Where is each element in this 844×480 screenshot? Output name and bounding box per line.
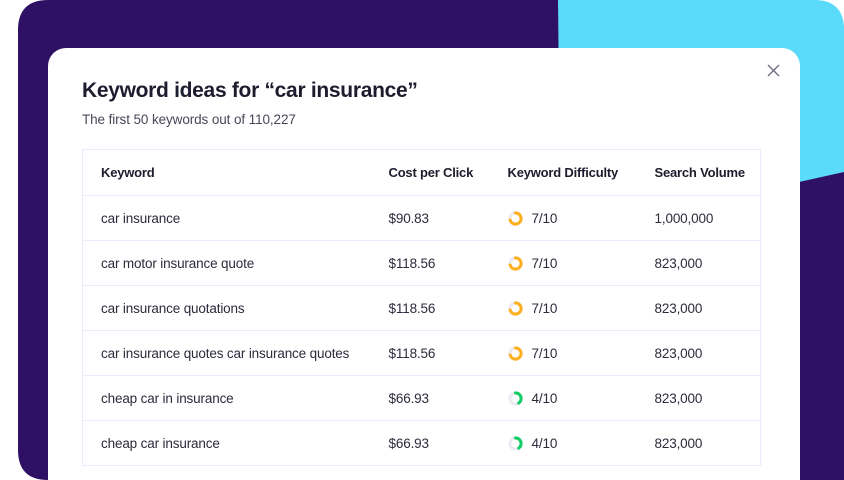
cell-cost-per-click: $66.93	[371, 376, 490, 421]
cell-cost-per-click: $118.56	[371, 331, 490, 376]
difficulty-gauge-icon	[508, 211, 523, 226]
difficulty-score-label: 7/10	[532, 301, 558, 316]
result-count-label: The first 50 keywords out of 110,227	[82, 112, 766, 127]
cell-keyword-difficulty: 7/10	[490, 331, 637, 376]
column-header-cost-per-click[interactable]: Cost per Click	[371, 150, 490, 196]
difficulty-gauge-icon	[508, 256, 523, 271]
difficulty-score-label: 7/10	[532, 256, 558, 271]
cell-keyword-difficulty: 4/10	[490, 421, 637, 466]
cell-search-volume: 1,000,000	[637, 196, 761, 241]
cell-cost-per-click: $66.93	[371, 421, 490, 466]
keyword-table-container: Keyword Cost per Click Keyword Difficult…	[82, 149, 766, 466]
cell-keyword: cheap car in insurance	[83, 376, 371, 421]
cell-keyword-difficulty: 4/10	[490, 376, 637, 421]
cell-keyword: car motor insurance quote	[83, 241, 371, 286]
cell-keyword-difficulty: 7/10	[490, 241, 637, 286]
close-icon[interactable]	[758, 55, 788, 85]
cell-search-volume: 823,000	[637, 286, 761, 331]
cell-search-volume: 823,000	[637, 421, 761, 466]
difficulty-gauge-icon	[508, 391, 523, 406]
difficulty-gauge-icon	[508, 436, 523, 451]
cell-keyword: car insurance	[83, 196, 371, 241]
table-row[interactable]: cheap car insurance$66.934/10823,000	[83, 421, 761, 466]
difficulty-score-label: 4/10	[532, 436, 558, 451]
keyword-table: Keyword Cost per Click Keyword Difficult…	[82, 149, 761, 466]
table-header-row: Keyword Cost per Click Keyword Difficult…	[83, 150, 761, 196]
table-row[interactable]: car insurance quotes car insurance quote…	[83, 331, 761, 376]
cell-keyword: cheap car insurance	[83, 421, 371, 466]
difficulty-gauge-icon	[508, 346, 523, 361]
cell-cost-per-click: $118.56	[371, 286, 490, 331]
cell-keyword: car insurance quotations	[83, 286, 371, 331]
table-row[interactable]: car insurance quotations$118.567/10823,0…	[83, 286, 761, 331]
keyword-ideas-modal: Keyword ideas for “car insurance” The fi…	[48, 48, 800, 480]
cell-keyword: car insurance quotes car insurance quote…	[83, 331, 371, 376]
modal-header: Keyword ideas for “car insurance” The fi…	[48, 48, 800, 127]
page-title: Keyword ideas for “car insurance”	[82, 78, 766, 103]
column-header-search-volume[interactable]: Search Volume	[637, 150, 761, 196]
difficulty-score-label: 7/10	[532, 211, 558, 226]
table-body: car insurance$90.837/101,000,000car moto…	[83, 196, 761, 466]
cell-keyword-difficulty: 7/10	[490, 196, 637, 241]
column-header-keyword[interactable]: Keyword	[83, 150, 371, 196]
difficulty-score-label: 7/10	[532, 346, 558, 361]
cell-search-volume: 823,000	[637, 241, 761, 286]
cell-search-volume: 823,000	[637, 331, 761, 376]
cell-keyword-difficulty: 7/10	[490, 286, 637, 331]
screen: Keyword ideas for “car insurance” The fi…	[0, 0, 844, 480]
column-header-keyword-difficulty[interactable]: Keyword Difficulty	[490, 150, 637, 196]
difficulty-gauge-icon	[508, 301, 523, 316]
cell-cost-per-click: $90.83	[371, 196, 490, 241]
cell-cost-per-click: $118.56	[371, 241, 490, 286]
table-row[interactable]: car insurance$90.837/101,000,000	[83, 196, 761, 241]
table-header: Keyword Cost per Click Keyword Difficult…	[83, 150, 761, 196]
cell-search-volume: 823,000	[637, 376, 761, 421]
difficulty-score-label: 4/10	[532, 391, 558, 406]
table-row[interactable]: cheap car in insurance$66.934/10823,000	[83, 376, 761, 421]
table-row[interactable]: car motor insurance quote$118.567/10823,…	[83, 241, 761, 286]
